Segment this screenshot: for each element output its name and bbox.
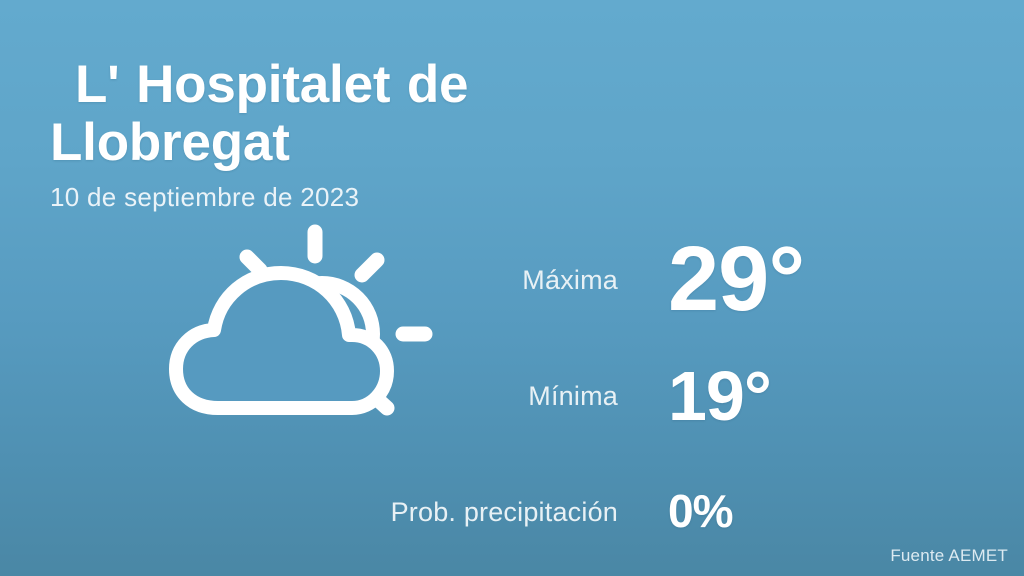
measure-row-precipitation: Prob. precipitación 0% [380, 454, 940, 570]
min-temp-label: Mínima [380, 381, 668, 412]
max-temp-label: Máxima [380, 265, 668, 296]
source-attribution: Fuente AEMET [890, 546, 1008, 566]
measure-row-max: Máxima 29° [380, 222, 940, 338]
measurements-list: Máxima 29° Mínima 19° Prob. precipitació… [380, 222, 940, 570]
min-temp-value: 19° [668, 363, 771, 430]
weather-card: L' Hospitalet de Llobregat 10 de septiem… [0, 0, 1024, 576]
precipitation-label: Prob. precipitación [380, 497, 668, 528]
forecast-date: 10 de septiembre de 2023 [50, 183, 690, 212]
page-title: L' Hospitalet de Llobregat [50, 56, 690, 172]
header: L' Hospitalet de Llobregat 10 de septiem… [50, 56, 690, 211]
max-temp-value: 29° [668, 236, 804, 323]
measure-row-min: Mínima 19° [380, 338, 940, 454]
precipitation-value: 0% [668, 490, 732, 534]
